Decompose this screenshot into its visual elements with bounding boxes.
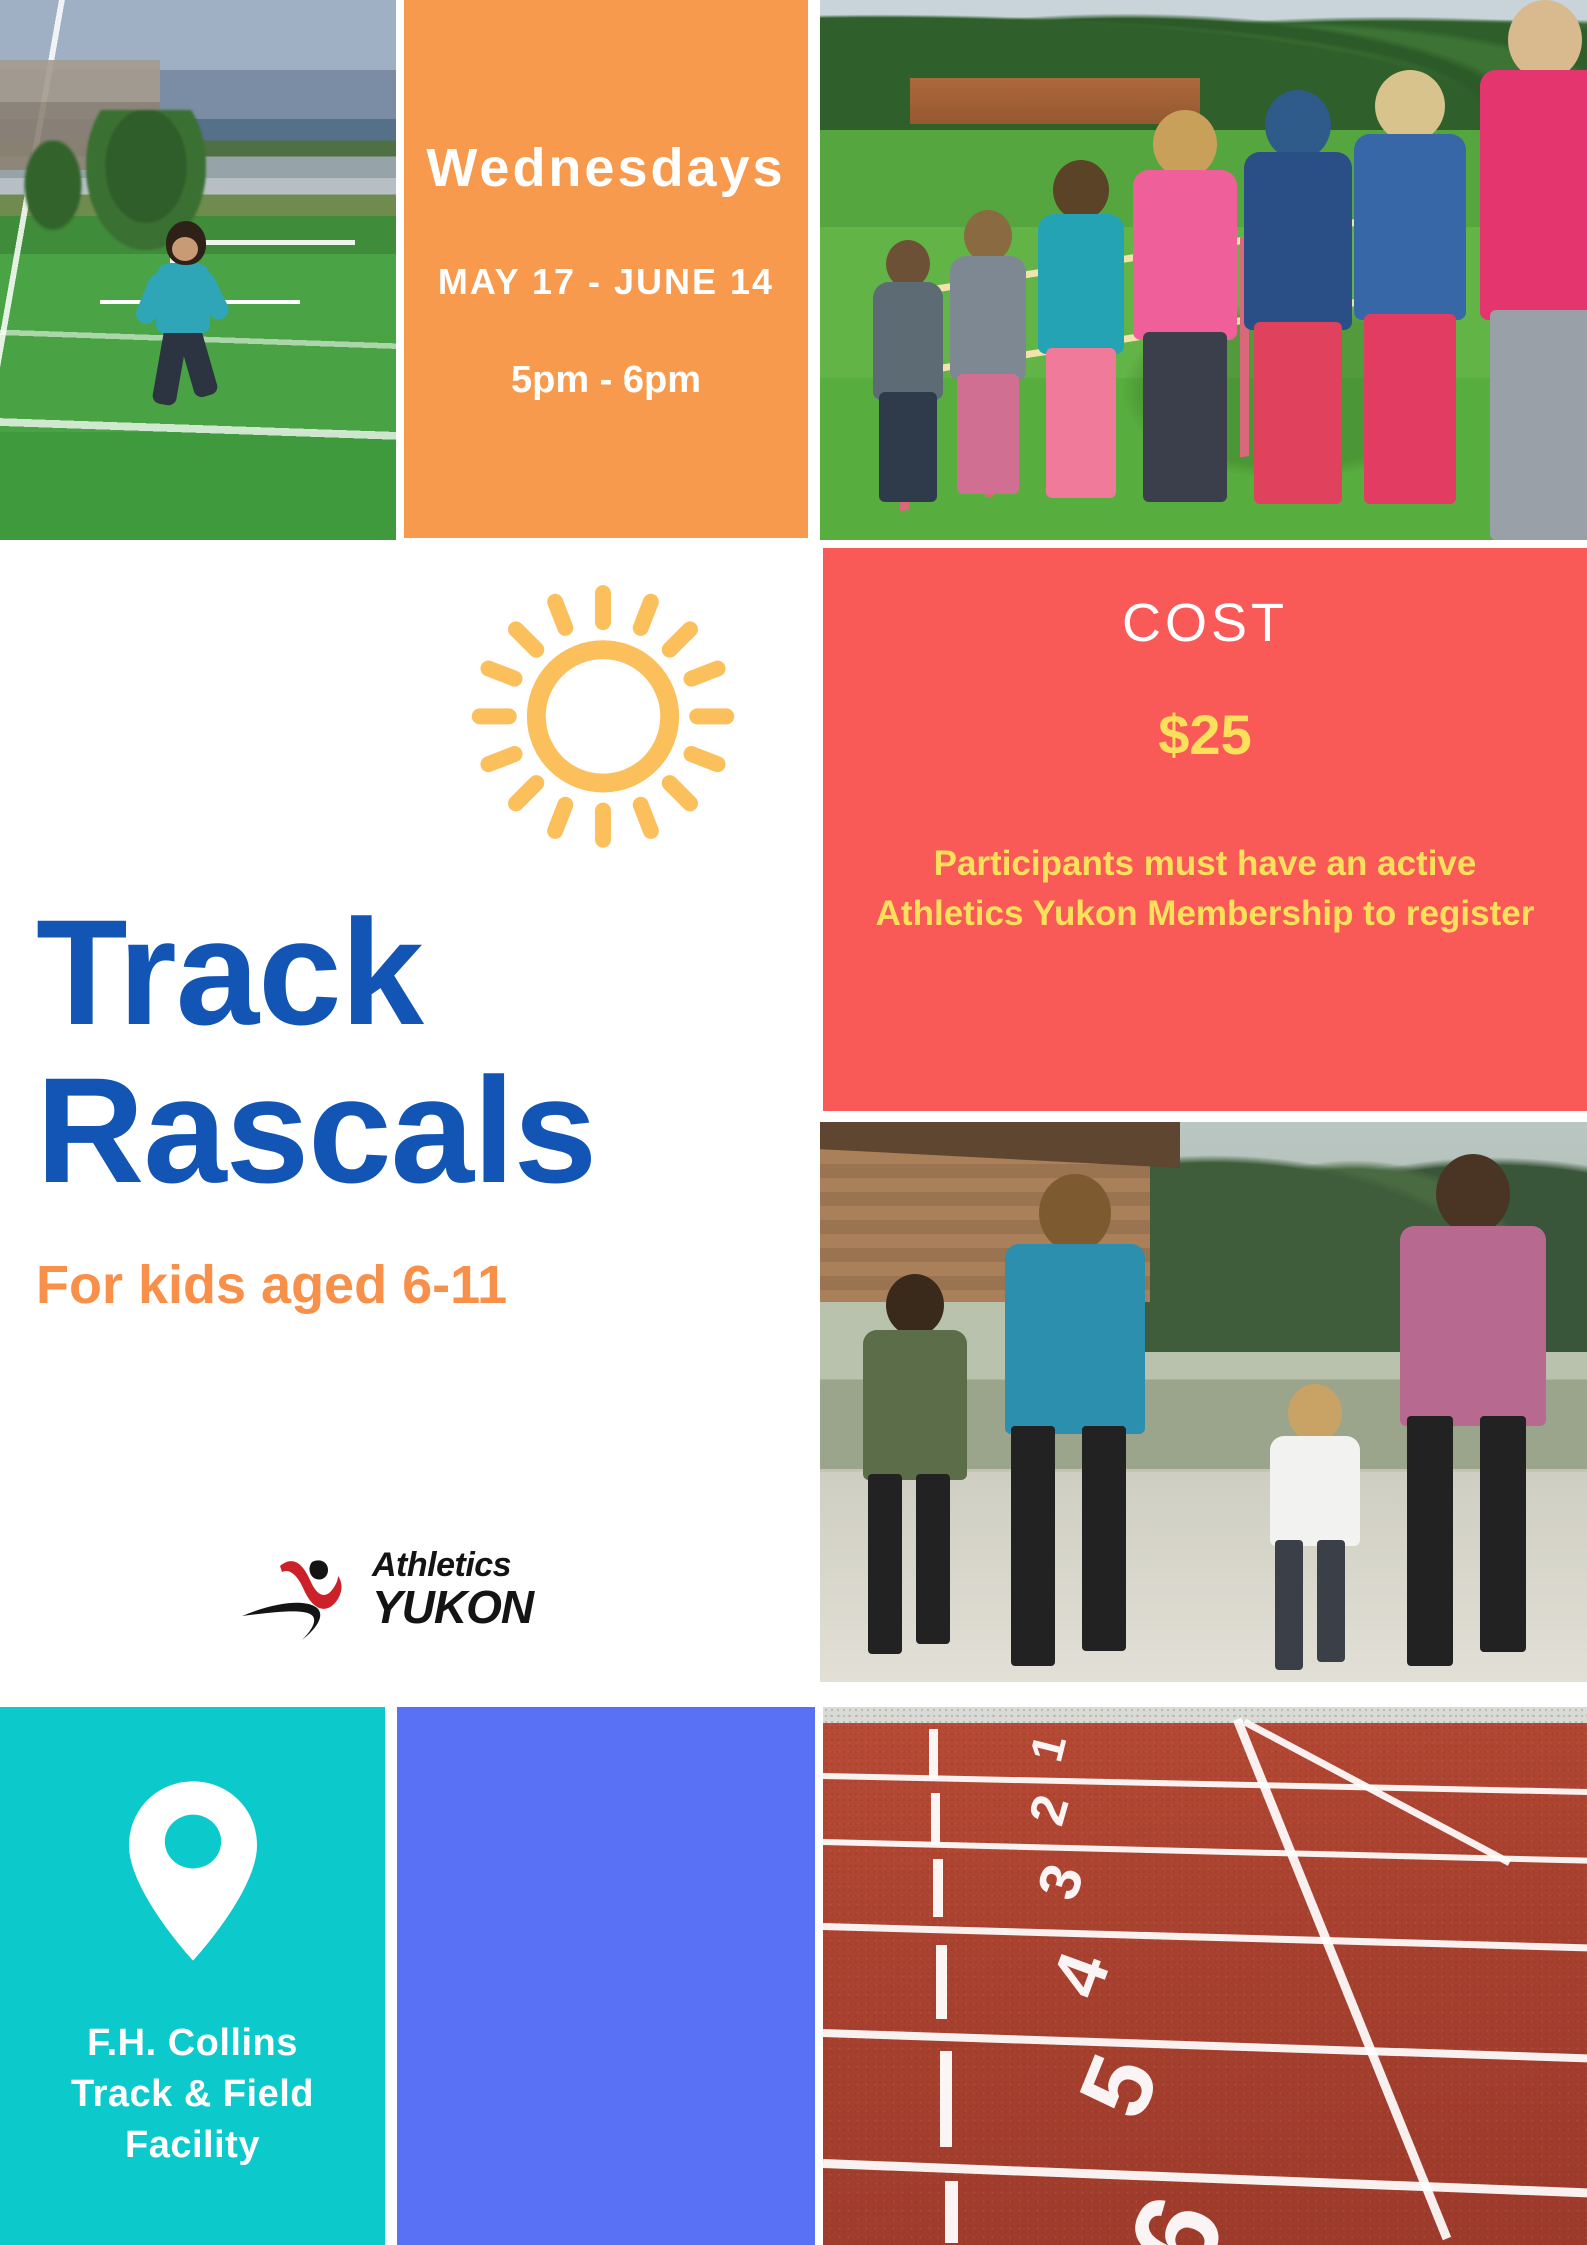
schedule-time: 5pm - 6pm: [511, 359, 701, 402]
schedule-dates: MAY 17 - JUNE 14: [438, 261, 774, 303]
map-pin-icon: [129, 1781, 257, 1966]
running-boy-figure: [140, 215, 234, 415]
logo-wordmark: Athletics YUKON: [372, 1548, 533, 1630]
start-mark: [933, 1859, 943, 1917]
start-mark: [936, 1945, 947, 2019]
page-title-line-1: Track: [36, 900, 796, 1044]
location-block: F.H. Collins Track & Field Facility: [0, 1707, 385, 2245]
boy-running-on-field-photo: [0, 0, 396, 540]
women-and-girl-running-photo: [820, 1122, 1587, 1682]
cost-label: COST: [1122, 592, 1288, 654]
location-name: F.H. Collins Track & Field Facility: [71, 2018, 314, 2172]
runner-figure: [970, 1174, 1180, 1674]
blue-accent-block: [397, 1707, 815, 2245]
running-track-lanes-photo: 1 2 3 4 5 6: [823, 1707, 1587, 2245]
kids-agility-ladder-photo: [820, 0, 1587, 540]
start-mark: [929, 1729, 938, 1779]
sun-icon: [458, 562, 748, 862]
cost-amount: $25: [1158, 702, 1251, 767]
field-tree-small: [18, 140, 88, 240]
adult-figure: [1465, 0, 1587, 540]
poster-title-group: Track Rascals For kids aged 6-11: [36, 900, 796, 1316]
schedule-block: Wednesdays MAY 17 - JUNE 14 5pm - 6pm: [404, 0, 808, 538]
cost-block: COST $25 Participants must have an activ…: [823, 548, 1587, 1111]
poster-subtitle: For kids aged 6-11: [36, 1254, 796, 1316]
logo-word-yukon: YUKON: [372, 1584, 533, 1630]
start-mark: [945, 2181, 958, 2243]
logo-word-athletics: Athletics: [372, 1548, 533, 1582]
start-mark: [931, 1793, 940, 1845]
start-mark: [940, 2051, 952, 2147]
athletics-yukon-logo: Athletics YUKON: [240, 1540, 560, 1650]
location-line-1: F.H. Collins: [71, 2018, 314, 2069]
child-runner-figure: [1250, 1384, 1380, 1674]
cost-note: Participants must have an active Athleti…: [875, 839, 1535, 938]
runner-figure: [840, 1274, 990, 1674]
poster-canvas: Wednesdays MAY 17 - JUNE 14 5pm - 6pm: [0, 0, 1587, 2245]
runner-figure: [1365, 1154, 1580, 1674]
child-figure: [938, 210, 1038, 540]
schedule-day: Wednesdays: [426, 137, 785, 199]
child-figure: [1340, 70, 1480, 540]
location-line-2: Track & Field: [71, 2069, 314, 2120]
page-title-line-2: Rascals: [36, 1058, 796, 1202]
location-line-3: Facility: [71, 2120, 314, 2171]
